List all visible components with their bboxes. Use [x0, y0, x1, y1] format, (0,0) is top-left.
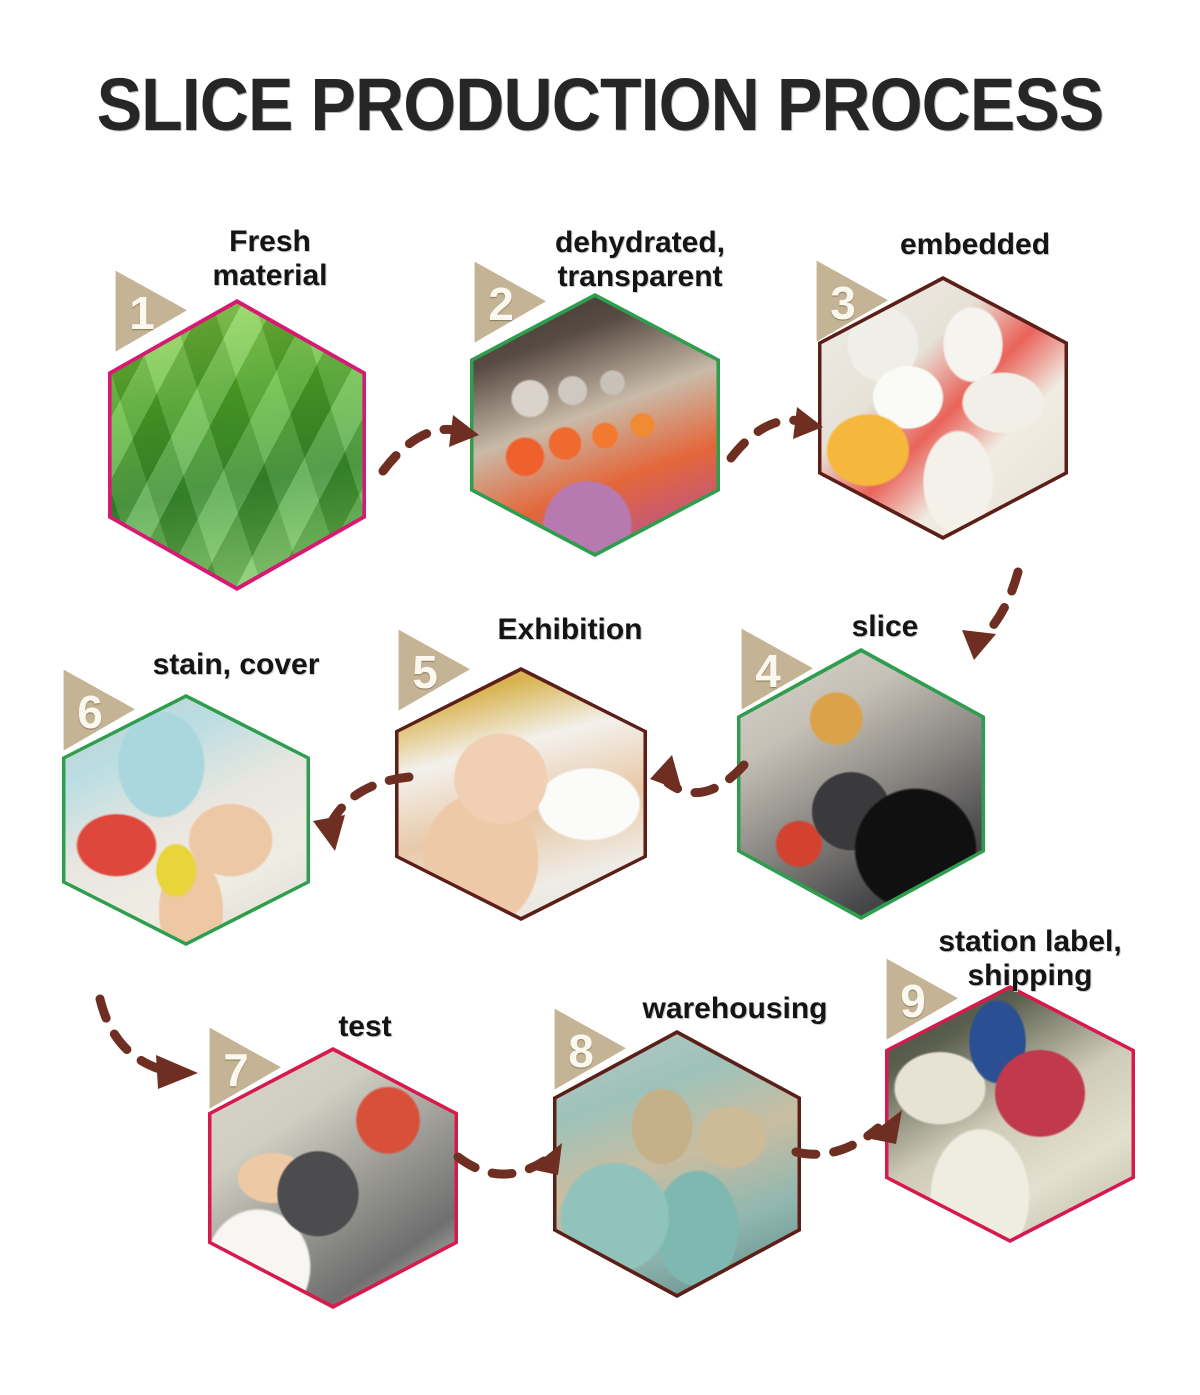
badge-number-3: 3	[830, 280, 856, 326]
badge-triangle-3	[814, 257, 900, 349]
arrow-step3-to-step4	[940, 560, 1050, 670]
arrow-step5-to-step6	[305, 755, 420, 860]
step-caption-7: test	[250, 1010, 480, 1044]
step-caption-8: warehousing	[595, 992, 875, 1026]
step-caption-3: embedded	[855, 228, 1095, 262]
badge-number-8: 8	[568, 1028, 594, 1074]
step-caption-6: stain, cover	[106, 648, 366, 682]
badge-number-7: 7	[223, 1047, 249, 1093]
page-title: SLICE PRODUCTION PROCESS	[48, 62, 1152, 147]
step-caption-5: Exhibition	[440, 613, 700, 647]
arrow-step8-to-step9	[790, 1090, 910, 1180]
arrow-step2-to-step3	[725, 400, 825, 475]
step-caption-2: dehydrated, transparent	[505, 226, 775, 293]
arrow-step6-to-step7	[80, 985, 225, 1095]
badge-number-4: 4	[755, 648, 781, 694]
step-caption-9: station label, shipping	[910, 925, 1150, 992]
step-badge-3: 3	[814, 257, 900, 349]
arrow-step1-to-step2	[375, 405, 485, 485]
arrow-step7-to-step8	[452, 1113, 572, 1198]
arrow-step4-to-step5	[638, 735, 753, 820]
step-caption-1: Fresh material	[150, 225, 390, 292]
badge-number-1: 1	[129, 290, 155, 336]
badge-number-6: 6	[77, 689, 103, 735]
badge-number-5: 5	[412, 649, 438, 695]
infographic-canvas: SLICE PRODUCTION PROCESS 1 Fresh materia…	[0, 0, 1200, 1395]
